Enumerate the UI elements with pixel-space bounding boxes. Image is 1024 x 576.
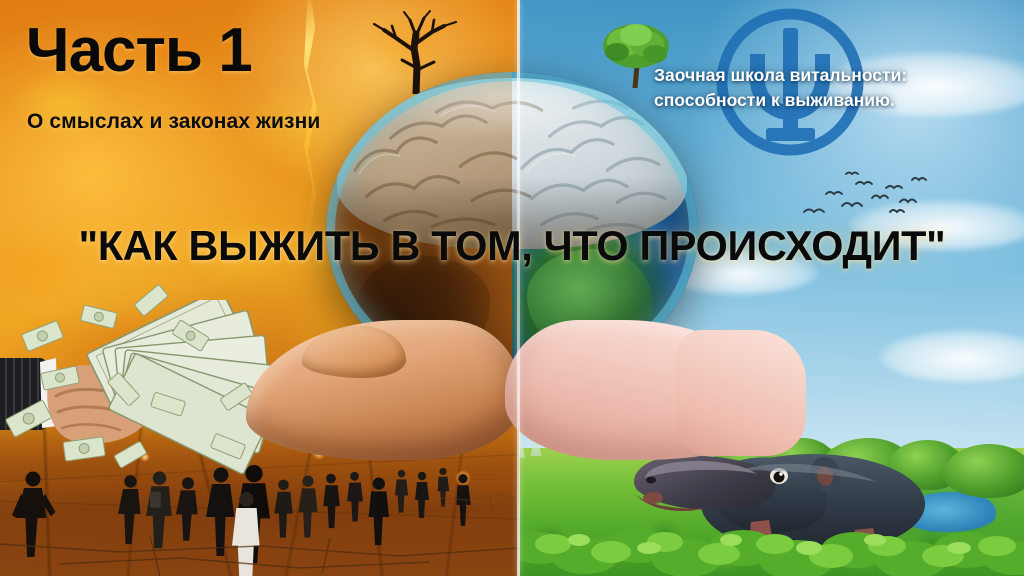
main-headline: "КАК ВЫЖИТЬ В ТОМ, ЧТО ПРОИСХОДИТ" xyxy=(8,222,1017,270)
cupped-hands xyxy=(246,320,780,460)
part-title: Часть 1 xyxy=(26,20,252,82)
vertical-divider-seam xyxy=(517,0,520,576)
promo-banner: Часть 1 О смыслах и законах жизни Заочна… xyxy=(0,0,1024,576)
school-tagline: Заочная школа витальности: способности к… xyxy=(654,63,907,113)
left-half-scorched-world xyxy=(0,0,519,576)
right-wrist xyxy=(676,330,806,456)
flock-of-birds-icon xyxy=(790,150,940,230)
foreground-grass-icon xyxy=(519,486,1024,576)
left-thumb xyxy=(302,326,406,378)
part-subtitle: О смыслах и законах жизни xyxy=(27,110,320,134)
dead-tree-icon xyxy=(362,8,474,94)
school-tagline-line-2: способности к выживанию. xyxy=(654,88,907,113)
school-tagline-line-1: Заочная школа витальности: xyxy=(654,63,907,88)
